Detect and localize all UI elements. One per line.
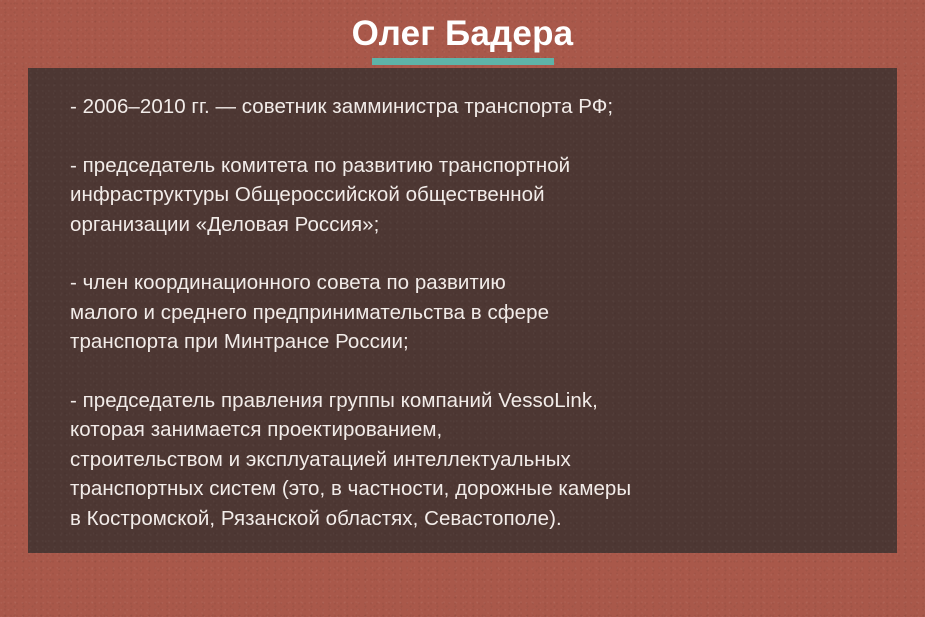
slide-canvas: Олег Бадера - 2006–2010 гг. — советник з… [0,0,925,617]
footer: 7x7 Информация о фирмах — по данным сист… [0,553,925,617]
page-title: Олег Бадера [352,0,574,51]
bio-item: - председатель правления группы компаний… [70,386,863,534]
bio-item: - председатель комитета по развитию тран… [70,151,863,240]
bio-item: - 2006–2010 гг. — советник замминистра т… [70,92,863,122]
header: Олег Бадера [0,0,925,68]
content-panel: - 2006–2010 гг. — советник замминистра т… [28,68,897,553]
title-underline-accent [372,58,554,65]
bio-item: - член координационного совета по развит… [70,268,863,357]
